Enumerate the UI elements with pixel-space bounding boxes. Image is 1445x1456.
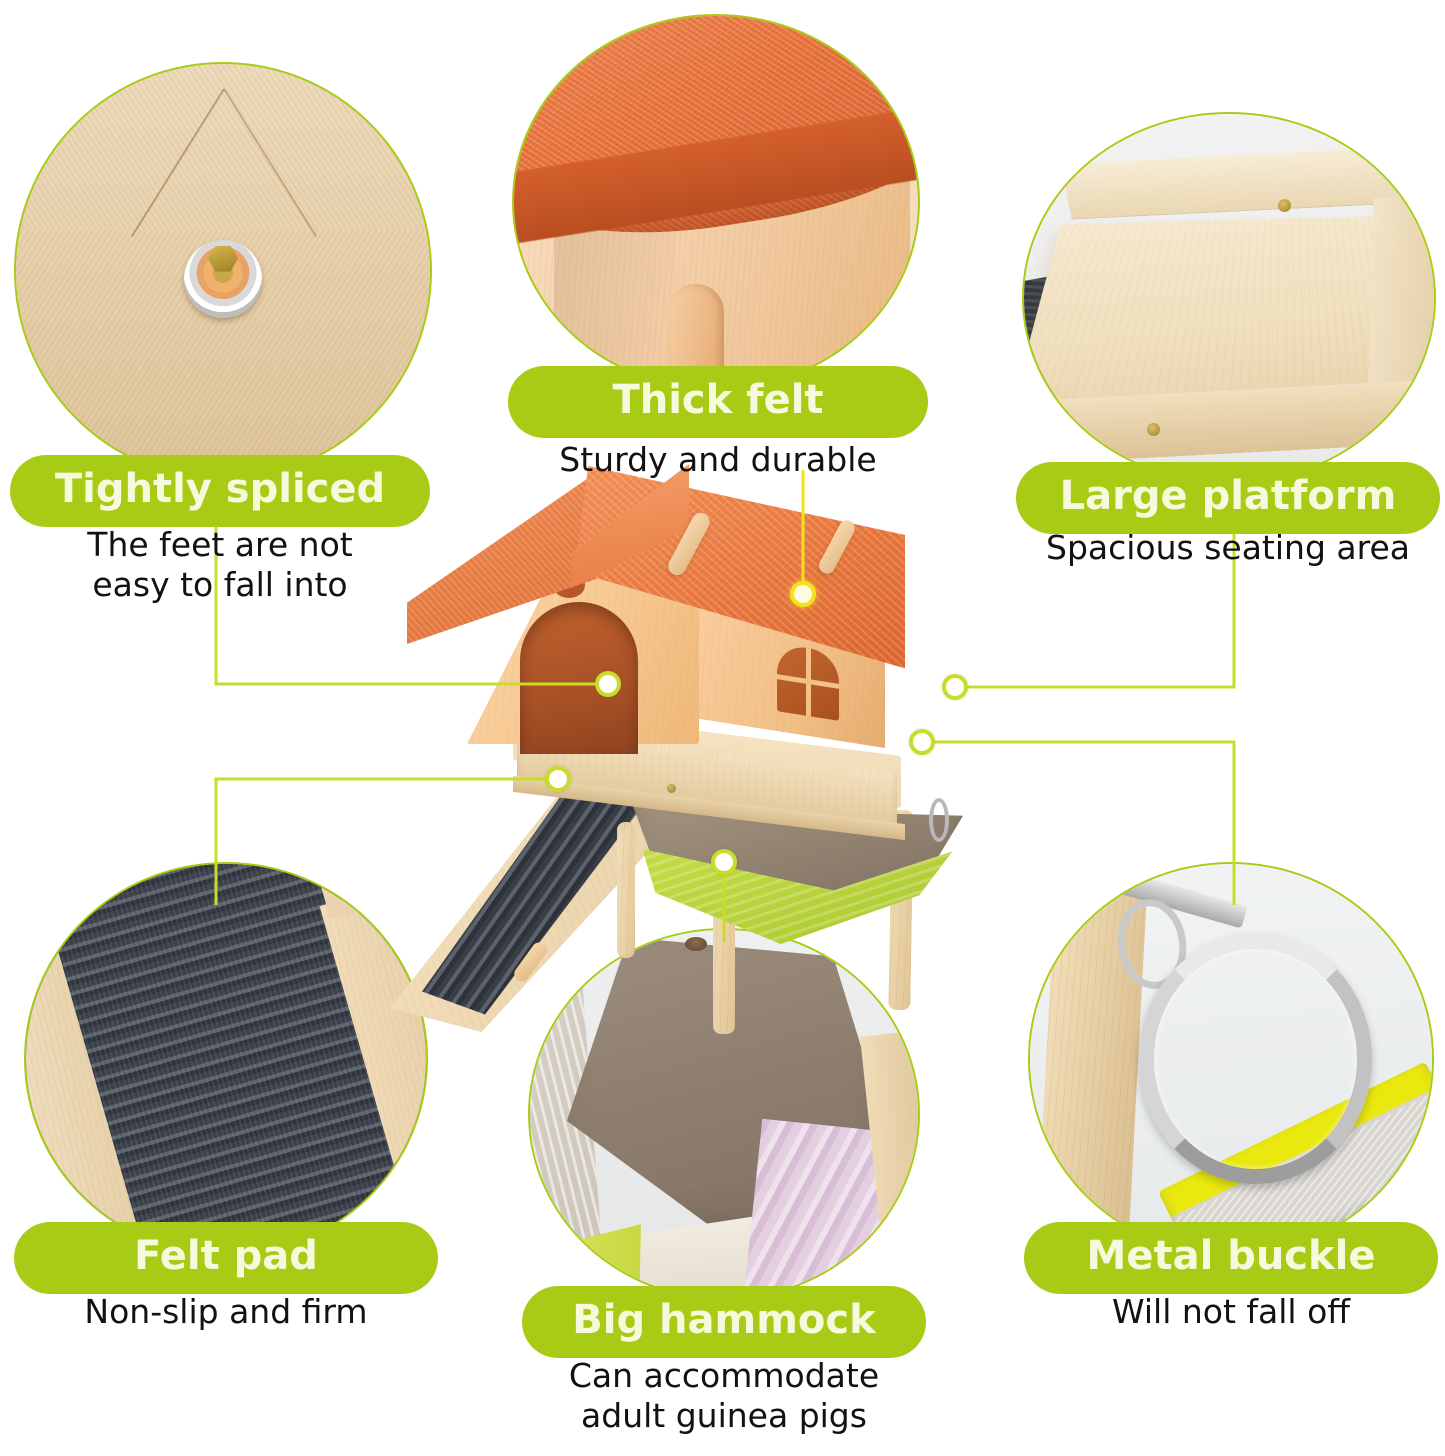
o-ring-icon (1139, 934, 1372, 1184)
subtitle-tightly-spliced: The feet are not easy to fall into (10, 525, 430, 606)
label-large-platform: Large platform (1016, 462, 1440, 534)
inset-large-platform (1022, 112, 1436, 484)
dot-metal-buckle (909, 729, 935, 755)
label-metal-buckle: Metal buckle (1024, 1222, 1438, 1294)
subtitle-large-platform: Spacious seating area (1016, 528, 1440, 568)
photo-platform (1024, 114, 1434, 482)
house-doorway (520, 602, 638, 754)
label-tightly-spliced: Tightly spliced (10, 455, 430, 527)
dot-tightly-spliced (595, 671, 621, 697)
dot-large-platform (942, 674, 968, 700)
label-felt-pad: Felt pad (14, 1222, 438, 1294)
photo-carpet-pad (26, 864, 426, 1254)
inset-tightly-spliced (14, 62, 432, 480)
hammock (633, 800, 963, 986)
wood-peg (668, 284, 724, 374)
inset-metal-buckle (1028, 862, 1434, 1256)
inset-thick-felt (512, 14, 920, 390)
hammock-buckle-icon (929, 798, 949, 842)
photo-metal-buckle (1030, 864, 1432, 1254)
platform-screw (1278, 199, 1291, 212)
subtitle-metal-buckle: Will not fall off (1024, 1292, 1438, 1332)
dot-felt-pad (545, 766, 571, 792)
photo-wood-corner (16, 64, 430, 478)
label-big-hammock: Big hammock (522, 1286, 926, 1358)
dot-big-hammock (711, 849, 737, 875)
subtitle-big-hammock: Can accommodate adult guinea pigs (502, 1356, 946, 1437)
platform-screw (667, 784, 676, 793)
infographic-canvas: Tightly spliced The feet are not easy to… (0, 0, 1445, 1456)
subtitle-thick-felt: Sturdy and durable (508, 440, 928, 480)
label-thick-felt: Thick felt (508, 366, 928, 438)
inset-felt-pad (24, 862, 428, 1256)
photo-felt-roof-edge (514, 16, 918, 388)
dot-thick-felt (790, 581, 816, 607)
subtitle-felt-pad: Non-slip and firm (14, 1292, 438, 1332)
